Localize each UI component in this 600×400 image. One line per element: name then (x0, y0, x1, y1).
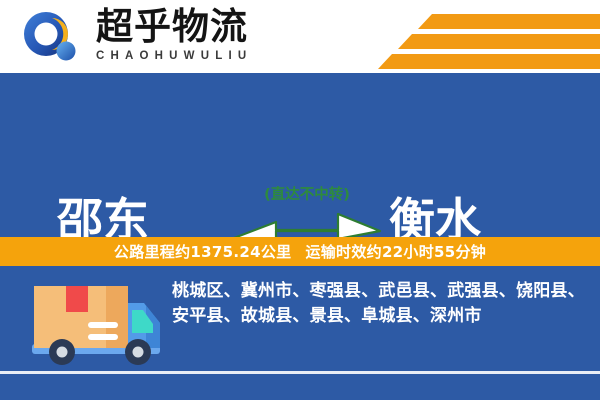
coverage-areas-text: 桃城区、冀州市、枣强县、武邑县、武强县、饶阳县、安平县、故城县、景县、阜城县、深… (172, 279, 590, 329)
bottom-divider (0, 371, 600, 374)
route-panel: 邵东 (直达不中转) 【往返运输】 衡水 (0, 73, 600, 237)
decorative-stripes (340, 0, 600, 73)
brand-name-en: CHAOHUWULIU (96, 49, 276, 63)
distance-text: 公路里程约1375.24公里 (114, 241, 292, 262)
circle-q-logo-icon (22, 11, 80, 63)
delivery-truck-icon (26, 276, 172, 371)
brand-name-cn: 超乎物流 (96, 6, 276, 48)
logistics-route-banner: 超乎物流 CHAOHUWULIU 邵东 (直达不中转) 【往返运输】 衡水 (0, 0, 600, 400)
direct-service-note: (直达不中转) (232, 186, 382, 204)
route-info-bar: 公路里程约1375.24公里 运输时效约22小时55分钟 (0, 237, 600, 266)
coverage-panel: 桃城区、冀州市、枣强县、武邑县、武强县、饶阳县、安平县、故城县、景县、阜城县、深… (0, 266, 600, 400)
banner-header: 超乎物流 CHAOHUWULIU (0, 0, 600, 73)
duration-text: 运输时效约22小时55分钟 (305, 241, 486, 262)
brand-block: 超乎物流 CHAOHUWULIU (96, 6, 276, 63)
